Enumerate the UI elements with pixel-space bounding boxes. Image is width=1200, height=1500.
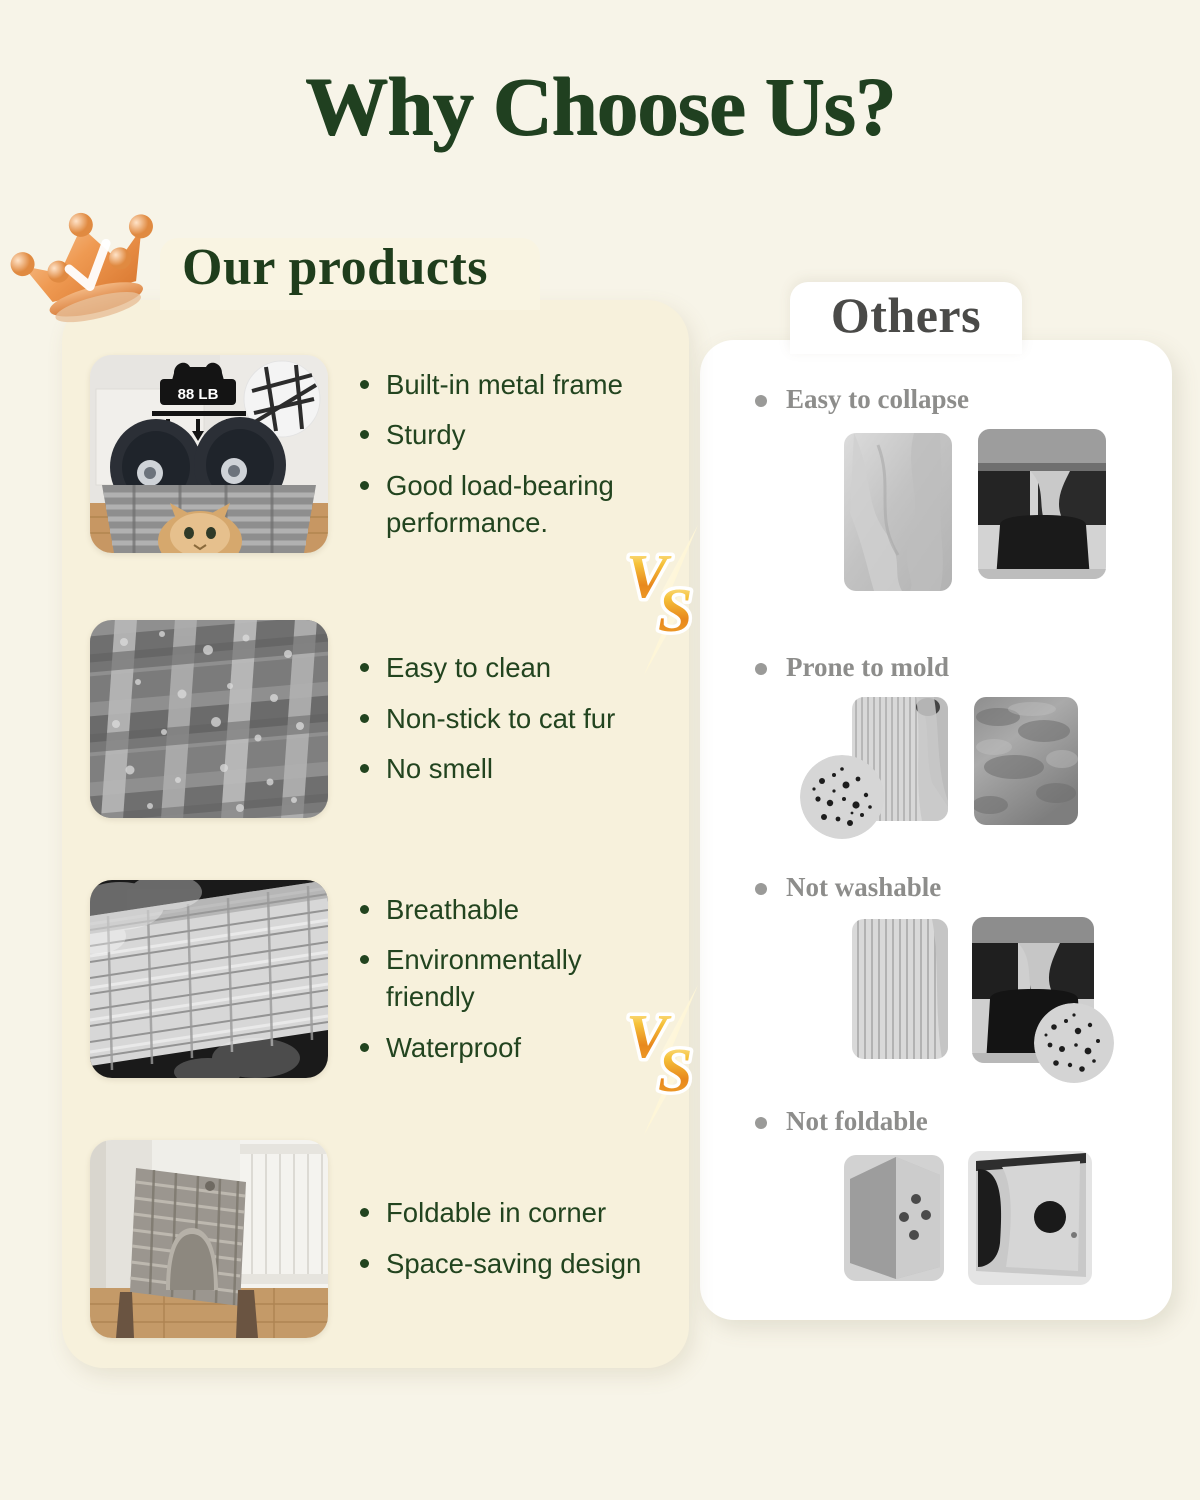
product-bullet-list: Foldable in corner Space-saving design <box>358 1195 641 1282</box>
bullet-item: Foldable in corner <box>358 1195 641 1232</box>
svg-text:S: S <box>658 1037 692 1105</box>
product-row: Breathable Environmentally friendly Wate… <box>90 880 663 1078</box>
bullet-item: Sturdy <box>358 417 663 454</box>
bullet-item: Space-saving design <box>358 1246 641 1283</box>
vs-badge: V V S S <box>618 525 726 675</box>
woven-rattan-with-steam-image <box>90 880 328 1078</box>
our-products-heading: Our products <box>182 238 488 297</box>
others-item-label: Easy to collapse <box>752 384 1152 415</box>
bullet-item: Built-in metal frame <box>358 367 663 404</box>
ribbed-fabric-panel-image <box>852 919 948 1059</box>
bullet-item: Easy to clean <box>358 650 615 687</box>
others-item-easy-to-collapse: Easy to collapse <box>752 384 1152 599</box>
dumbbells-in-woven-basket-with-cat-image: 88 LB <box>90 355 328 553</box>
others-item-not-washable: Not washable <box>752 872 1152 1077</box>
others-item-label: Not washable <box>752 872 1152 903</box>
svg-text:S: S <box>658 577 692 645</box>
crown-icon <box>8 208 173 333</box>
others-item-label: Prone to mold <box>752 652 1152 683</box>
others-item-label: Not foldable <box>752 1106 1152 1137</box>
vs-badge: V V S S <box>618 985 726 1135</box>
product-bullet-list: Built-in metal frame Sturdy Good load-be… <box>358 367 663 541</box>
product-bullet-list: Easy to clean Non-stick to cat fur No sm… <box>358 650 615 788</box>
others-heading: Others <box>790 286 1022 344</box>
product-row: 88 LB <box>90 355 663 553</box>
bullet-item: Non-stick to cat fur <box>358 701 615 738</box>
collapsed-fabric-house-image <box>978 429 1106 579</box>
product-row: Easy to clean Non-stick to cat fur No sm… <box>90 620 615 818</box>
rigid-box-side-hole-image <box>968 1151 1092 1285</box>
woven-rattan-with-water-droplets-image <box>90 620 328 818</box>
rigid-box-with-holes-image <box>844 1155 944 1281</box>
folded-litter-box-in-corner-image <box>90 1140 328 1338</box>
moldy-gray-surface-image <box>974 697 1078 825</box>
others-item-prone-to-mold: Prone to mold <box>752 652 1152 857</box>
mold-spots-circle <box>1034 1003 1114 1083</box>
others-item-not-foldable: Not foldable <box>752 1106 1152 1301</box>
bullet-item: Breathable <box>358 892 663 929</box>
mold-spots-circle <box>800 755 884 839</box>
product-row: Foldable in corner Space-saving design <box>90 1140 641 1338</box>
svg-text:88 LB: 88 LB <box>178 386 219 403</box>
bullet-item: No smell <box>358 751 615 788</box>
page-title: Why Choose Us? <box>0 58 1200 154</box>
collapsed-fabric-cover-image <box>844 433 952 591</box>
